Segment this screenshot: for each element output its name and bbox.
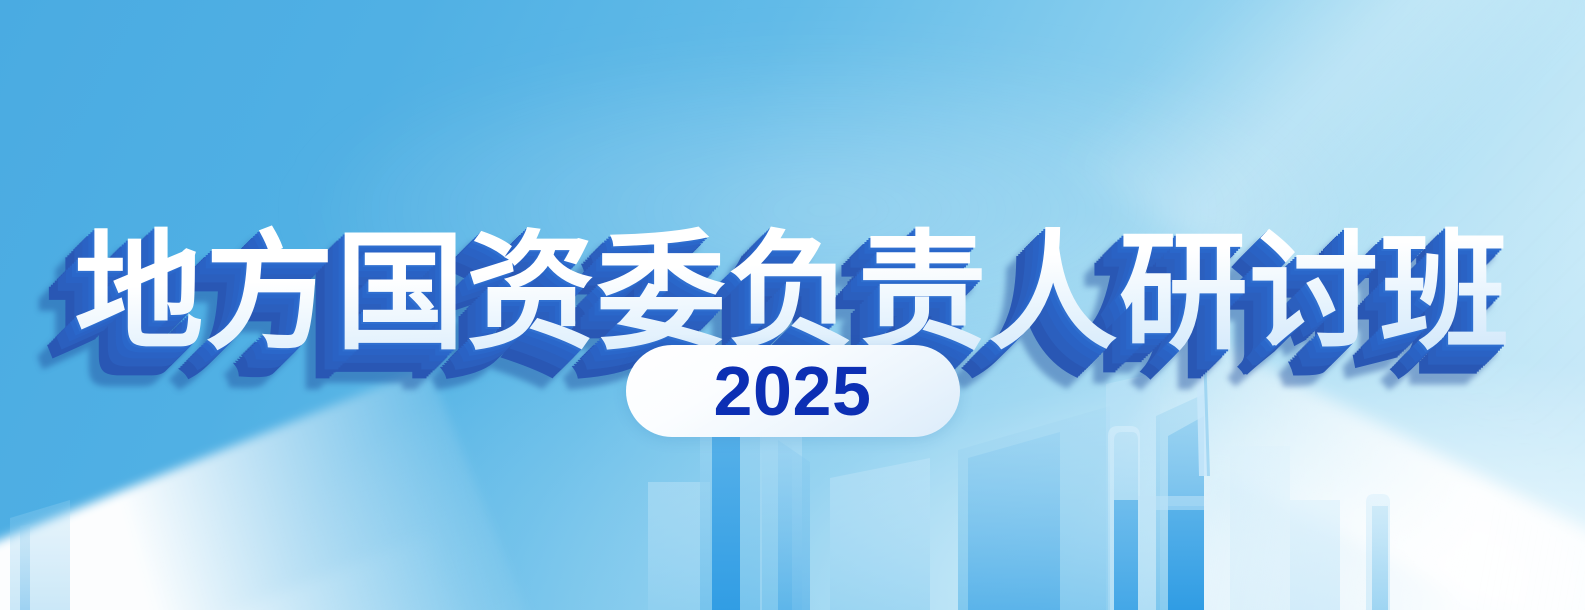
year-badge-label: 2025 [714,356,872,426]
page-title: 地方国资委负责人研讨班 [74,225,1510,362]
swoosh-bottom-right-shade [1079,469,1585,610]
swoosh-bottom-left-shade [0,533,552,610]
year-badge: 2025 [626,345,960,437]
year-badge-container: 2025 [0,345,1585,437]
event-banner: 地方国资委负责人研讨班 2025 [0,0,1585,610]
